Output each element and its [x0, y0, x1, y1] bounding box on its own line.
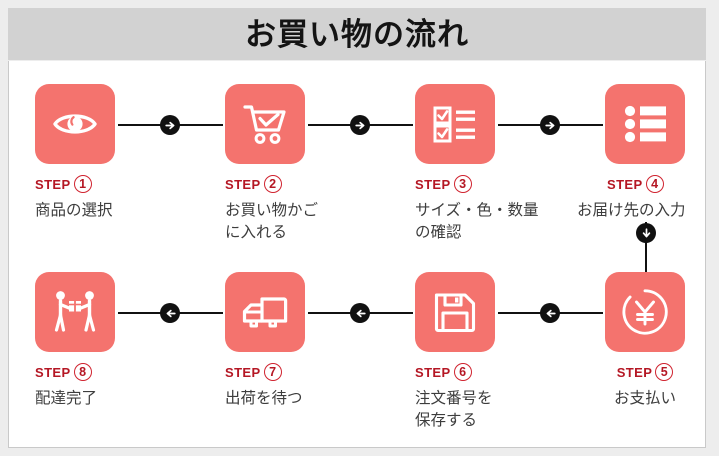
step-8-tile[interactable]: [35, 272, 115, 352]
step-8-number: 8: [74, 363, 92, 381]
page-title: お買い物の流れ: [245, 19, 469, 50]
step-4-number: 4: [646, 175, 664, 193]
step-3-tag: STEP: [415, 178, 451, 191]
step-6[interactable]: STEP6 注文番号を 保存する: [415, 272, 585, 432]
step-2-label: STEP2: [225, 175, 395, 193]
step-8-tag: STEP: [35, 366, 71, 379]
step-8[interactable]: STEP8 配達完了: [35, 272, 205, 410]
bullet-list-icon: [622, 101, 668, 147]
step-6-label: STEP6: [415, 363, 585, 381]
step-1-label: STEP1: [35, 175, 205, 193]
arrow-4-to-5: [636, 223, 656, 243]
step-3-caption: サイズ・色・数量 の確認: [415, 200, 585, 244]
step-5-tag: STEP: [617, 366, 653, 379]
step-3-tile[interactable]: [415, 84, 495, 164]
step-1[interactable]: STEP1 商品の選択: [35, 84, 205, 222]
step-2-number: 2: [264, 175, 282, 193]
step-7-tile[interactable]: [225, 272, 305, 352]
delivery-truck-icon: [240, 287, 290, 337]
step-7-label: STEP7: [225, 363, 395, 381]
step-3[interactable]: STEP3 サイズ・色・数量 の確認: [415, 84, 585, 244]
shopping-cart-icon: [241, 100, 289, 148]
step-5-number: 5: [655, 363, 673, 381]
shopping-flow-infographic: お買い物の流れ: [0, 0, 719, 456]
step-1-tile[interactable]: [35, 84, 115, 164]
floppy-disk-save-icon: [432, 289, 478, 335]
step-7-tag: STEP: [225, 366, 261, 379]
step-3-label: STEP3: [415, 175, 585, 193]
step-5[interactable]: STEP5 お支払い: [605, 272, 719, 410]
step-4-tile[interactable]: [605, 84, 685, 164]
step-4-caption: お届け先の入力: [577, 200, 719, 222]
package-handoff-icon: [50, 287, 100, 337]
step-2-tag: STEP: [225, 178, 261, 191]
title-banner: お買い物の流れ: [8, 8, 706, 60]
step-6-number: 6: [454, 363, 472, 381]
step-1-number: 1: [74, 175, 92, 193]
step-4[interactable]: STEP4 お届け先の入力: [605, 84, 719, 222]
yen-coin-icon: [620, 287, 670, 337]
step-2-tile[interactable]: [225, 84, 305, 164]
step-5-tile[interactable]: [605, 272, 685, 352]
step-3-number: 3: [454, 175, 472, 193]
step-4-tag: STEP: [607, 178, 643, 191]
step-4-label: STEP4: [605, 175, 719, 193]
step-5-label: STEP5: [605, 363, 685, 381]
step-6-caption: 注文番号を 保存する: [415, 388, 585, 432]
checklist-icon: [431, 100, 479, 148]
step-6-tag: STEP: [415, 366, 451, 379]
step-2-caption: お買い物かご に入れる: [225, 200, 395, 244]
step-1-caption: 商品の選択: [35, 200, 205, 222]
step-8-caption: 配達完了: [35, 388, 205, 410]
eye-icon: [51, 100, 99, 148]
step-5-caption: お支払い: [590, 388, 700, 410]
step-7-number: 7: [264, 363, 282, 381]
step-7[interactable]: STEP7 出荷を待つ: [225, 272, 395, 410]
step-7-caption: 出荷を待つ: [225, 388, 395, 410]
step-2[interactable]: STEP2 お買い物かご に入れる: [225, 84, 395, 244]
step-8-label: STEP8: [35, 363, 205, 381]
step-1-tag: STEP: [35, 178, 71, 191]
step-6-tile[interactable]: [415, 272, 495, 352]
